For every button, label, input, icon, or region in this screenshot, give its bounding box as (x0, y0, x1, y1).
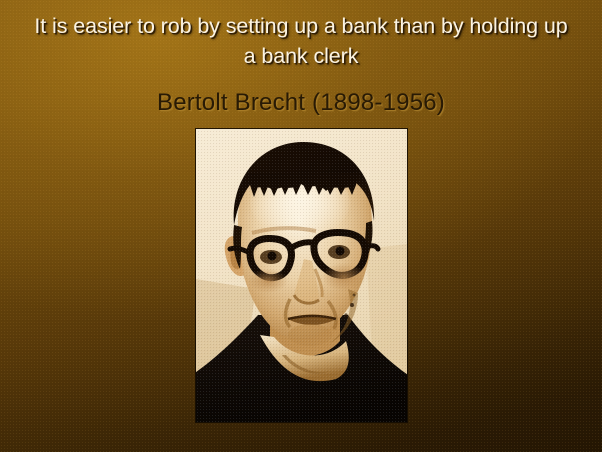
portrait-photo-artwork (196, 129, 407, 422)
attribution-text: Bertolt Brecht (1898-1956) (0, 88, 602, 118)
portrait-photo (196, 129, 407, 422)
quote-text: It is easier to rob by setting up a bank… (0, 11, 602, 71)
presentation-slide: It is easier to rob by setting up a bank… (0, 0, 602, 452)
